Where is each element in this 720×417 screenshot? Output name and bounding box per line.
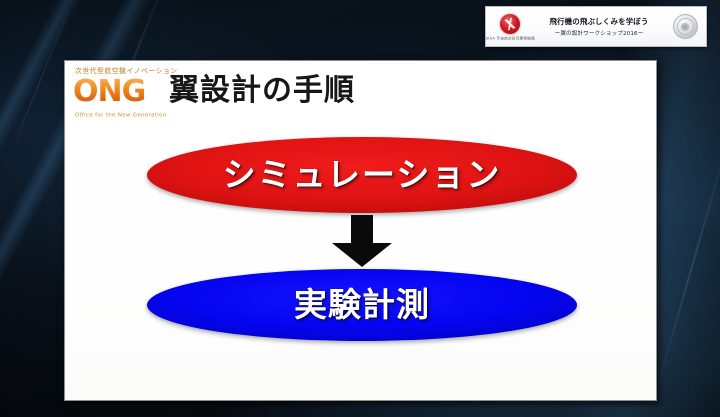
jaxa-logo-icon (500, 14, 520, 34)
university-seal (668, 14, 702, 39)
arrow-head (332, 243, 392, 267)
ong-wordmark: ONG (73, 77, 165, 107)
step-experiment: 実験計測 (147, 269, 577, 341)
ong-logo: 次世代型航空機イノベーション ONG Office for the New Ge… (73, 67, 165, 123)
ong-tagline-bottom: Office for the New Generation (75, 112, 210, 118)
slide-title: 翼設計の手順 (169, 73, 355, 109)
step-simulation-label: シミュレーション (223, 157, 502, 193)
event-header-banner: JAXA 宇宙航空研究開発機構 飛行機の飛ぶしくみを学ぼう ー翼の設計ワークショ… (485, 6, 707, 47)
banner-text-block: 飛行機の飛ぶしくみを学ぼう ー翼の設計ワークショップ2016ー (530, 16, 668, 37)
jaxa-wordmark: JAXA 宇宙航空研究開発機構 (485, 35, 534, 40)
banner-subtitle-line: ー翼の設計ワークショップ2016ー (555, 29, 644, 37)
presentation-slide: 次世代型航空機イノベーション ONG Office for the New Ge… (64, 60, 657, 401)
jaxa-logo: JAXA 宇宙航空研究開発機構 (490, 14, 530, 40)
arrow-shaft (351, 215, 373, 245)
banner-title-line: 飛行機の飛ぶしくみを学ぼう (550, 16, 649, 27)
step-experiment-label: 実験計測 (294, 287, 430, 323)
step-simulation: シミュレーション (147, 137, 577, 213)
down-arrow-icon (332, 215, 392, 267)
university-seal-icon (673, 14, 698, 39)
